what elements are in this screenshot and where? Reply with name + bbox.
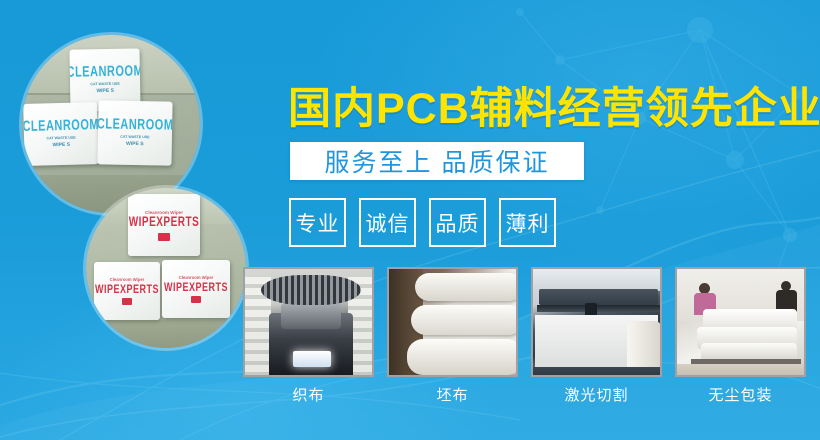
pack-subline-1: CAT WASTE USE xyxy=(46,136,75,141)
process-item-dustfree-packaging: 无尘包装 xyxy=(675,267,806,405)
wipexperts-scene: Cleanroom Wiper WIPEXPERTS Cleanroom Wip… xyxy=(86,188,246,348)
badge-zhuanye: 专业 xyxy=(289,198,346,247)
badge-baoli: 薄利 xyxy=(499,198,556,247)
pack-subline-1: Cleanroom Wiper xyxy=(110,277,145,282)
process-caption: 坯布 xyxy=(387,384,518,405)
badge-chengxin: 诚信 xyxy=(359,198,416,247)
wipexperts-pack-top: Cleanroom Wiper WIPEXPERTS xyxy=(128,194,200,256)
pack-subline-1: CAT WASTE USE xyxy=(120,135,149,140)
subtitle-bar: 服务至上 品质保证 xyxy=(290,142,584,180)
subtitle-text: 服务至上 品质保证 xyxy=(325,143,550,179)
process-caption: 激光切割 xyxy=(531,384,662,405)
process-item-weaving: 织布 xyxy=(243,267,374,405)
cleanroom-pack-left: CLEANROOM CAT WASTE USE WIPE S xyxy=(23,102,99,166)
process-caption: 无尘包装 xyxy=(675,384,806,405)
process-item-greige-fabric: 坯布 xyxy=(387,267,518,405)
keyword-badge-group: 专业 诚信 品质 薄利 xyxy=(289,198,556,247)
pack-brand-label: CLEANROOM xyxy=(97,116,172,134)
badge-pinzhi: 品质 xyxy=(429,198,486,247)
pack-subline-1: CAT WASTE USE xyxy=(90,82,119,87)
pack-subline-1: Cleanroom Wiper xyxy=(145,210,183,215)
pack-subline-1: Cleanroom Wiper xyxy=(179,275,214,280)
pack-subline-2: WIPE S xyxy=(126,141,144,147)
pack-brand-label: CLEANROOM xyxy=(69,63,140,81)
process-caption: 织布 xyxy=(243,384,374,405)
cleanroom-scene: CLEANROOM CAT WASTE USE WIPE S CLEANROOM… xyxy=(22,35,200,213)
banner-headline: 国内PCB辅料经营领先企业 xyxy=(288,74,820,136)
pack-brand-label: WIPEXPERTS xyxy=(95,282,159,296)
process-photo-strip: 织布 坯布 xyxy=(243,267,806,405)
pack-brand-label: WIPEXPERTS xyxy=(129,215,200,230)
process-item-laser-cutting: 激光切割 xyxy=(531,267,662,405)
pack-subline-2: WIPE S xyxy=(52,142,70,148)
wipexperts-pack-right: Cleanroom Wiper WIPEXPERTS xyxy=(162,260,230,318)
product-photo-cleanroom-circle: CLEANROOM CAT WASTE USE WIPE S CLEANROOM… xyxy=(22,35,200,213)
process-photo-knitting-machine xyxy=(243,267,374,377)
product-photo-wipexperts-circle: Cleanroom Wiper WIPEXPERTS Cleanroom Wip… xyxy=(86,188,246,348)
pack-brand-label: WIPEXPERTS xyxy=(164,280,228,294)
process-photo-packaging-room xyxy=(675,267,806,377)
process-photo-fabric-rolls xyxy=(387,267,518,377)
process-photo-laser-cutter xyxy=(531,267,662,377)
promo-banner: CLEANROOM CAT WASTE USE WIPE S CLEANROOM… xyxy=(0,0,820,440)
pack-brand-label: CLEANROOM xyxy=(23,117,99,135)
wipexperts-pack-left: Cleanroom Wiper WIPEXPERTS xyxy=(94,262,160,320)
pack-subline-2: WIPE S xyxy=(96,88,114,94)
cleanroom-pack-right: CLEANROOM CAT WASTE USE WIPE S xyxy=(97,100,172,165)
